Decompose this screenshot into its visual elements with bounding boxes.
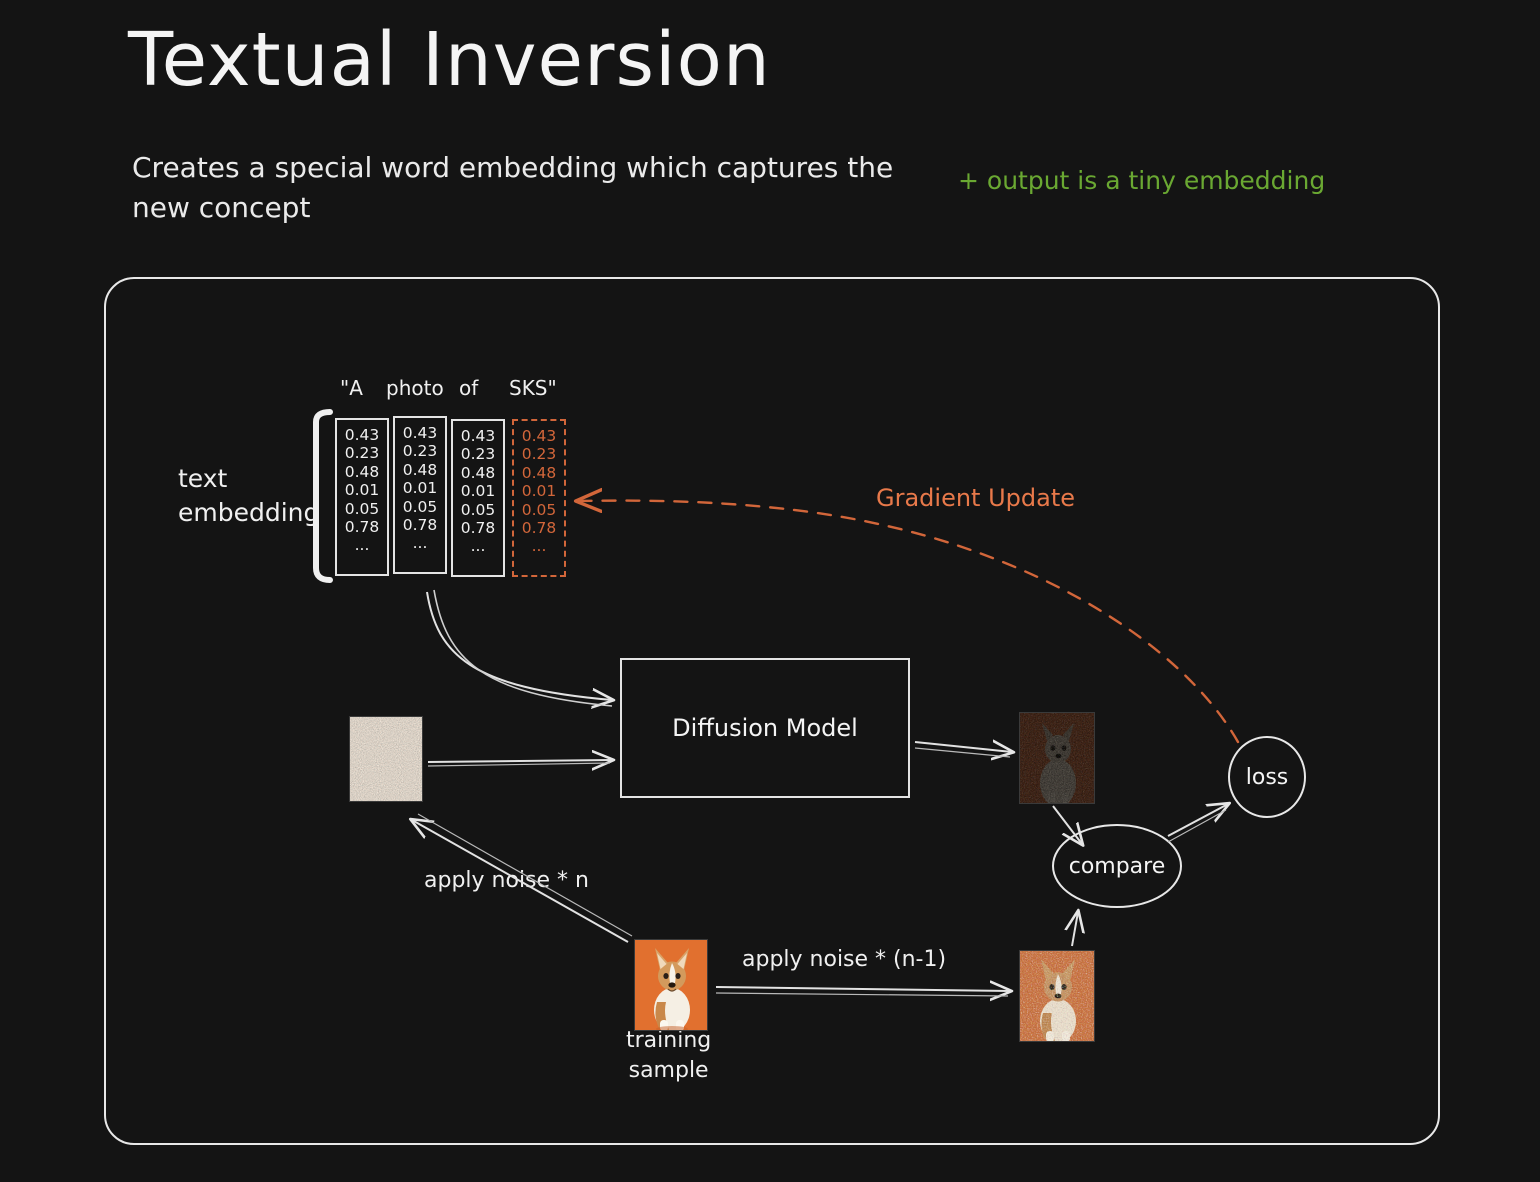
embedding-column-photo: 0.43 0.23 0.48 0.01 0.05 0.78 ...	[393, 416, 447, 574]
prompt-token-sks: SKS"	[509, 376, 557, 400]
diffusion-model-label: Diffusion Model	[672, 714, 858, 742]
embedding-value: 0.23	[522, 445, 557, 463]
pure-noise-svg	[350, 717, 423, 802]
embedding-value: 0.43	[522, 427, 557, 445]
note-output-tiny-embedding: + output is a tiny embedding	[958, 166, 1325, 195]
embedding-value: 0.05	[403, 498, 438, 516]
embedding-value: 0.48	[403, 461, 438, 479]
pure-noise-image	[349, 716, 423, 802]
loss-bubble: loss	[1228, 736, 1306, 818]
embedding-column-a: 0.43 0.23 0.48 0.01 0.05 0.78 ...	[335, 418, 389, 576]
embedding-value: 0.05	[461, 501, 496, 519]
embedding-value: 0.01	[522, 482, 557, 500]
training-corgi-svg	[635, 940, 708, 1031]
prompt-token-of: of	[459, 376, 478, 400]
prompt-token-a: "A	[340, 376, 363, 400]
embedding-value: ...	[471, 537, 486, 555]
embedding-value: 0.48	[522, 464, 557, 482]
apply-noise-n-label: apply noise * n	[424, 868, 589, 893]
apply-noise-n-minus-1-label: apply noise * (n-1)	[742, 947, 946, 972]
embedding-value: 0.01	[461, 482, 496, 500]
embedding-value: 0.01	[345, 481, 380, 499]
embedding-value: 0.78	[345, 518, 380, 536]
diffusion-model-box: Diffusion Model	[620, 658, 910, 798]
embedding-value: 0.78	[403, 516, 438, 534]
training-sample-caption-line2: sample	[626, 1056, 711, 1086]
embedding-value: 0.48	[461, 464, 496, 482]
embedding-value: 0.23	[403, 442, 438, 460]
embedding-value: 0.01	[403, 479, 438, 497]
text-embedding-label: text embedding	[178, 462, 318, 530]
page-subtitle: Creates a special word embedding which c…	[132, 148, 932, 228]
embedding-value: 0.23	[345, 444, 380, 462]
noised-corgi-svg	[1020, 951, 1095, 1042]
noised-corgi-image	[1019, 950, 1095, 1042]
page-title: Textual Inversion	[128, 22, 771, 100]
embedding-value: 0.43	[345, 426, 380, 444]
generated-noisy-dog-image	[1019, 712, 1095, 804]
training-corgi-image	[634, 939, 708, 1031]
embedding-value: ...	[532, 537, 547, 555]
loss-label: loss	[1246, 765, 1289, 790]
embedding-value: 0.23	[461, 445, 496, 463]
diagram-stage: Textual Inversion Creates a special word…	[0, 0, 1540, 1182]
compare-label: compare	[1069, 854, 1166, 879]
embedding-value: 0.78	[522, 519, 557, 537]
generated-noisy-dog-svg	[1020, 713, 1095, 804]
embedding-value: 0.43	[403, 424, 438, 442]
text-embedding-label-line2: embedding	[178, 496, 318, 530]
embedding-value: 0.05	[345, 500, 380, 518]
embedding-value: ...	[355, 536, 370, 554]
prompt-token-photo: photo	[386, 376, 444, 400]
embedding-value: ...	[413, 534, 428, 552]
gradient-update-label: Gradient Update	[876, 484, 1075, 512]
embedding-column-sks: 0.43 0.23 0.48 0.01 0.05 0.78 ...	[512, 419, 566, 577]
embedding-value: 0.43	[461, 427, 496, 445]
embedding-value: 0.78	[461, 519, 496, 537]
embedding-value: 0.48	[345, 463, 380, 481]
embedding-column-of: 0.43 0.23 0.48 0.01 0.05 0.78 ...	[451, 419, 505, 577]
text-embedding-label-line1: text	[178, 462, 318, 496]
training-sample-caption: training sample	[626, 1026, 711, 1085]
embedding-value: 0.05	[522, 501, 557, 519]
compare-bubble: compare	[1052, 824, 1182, 908]
